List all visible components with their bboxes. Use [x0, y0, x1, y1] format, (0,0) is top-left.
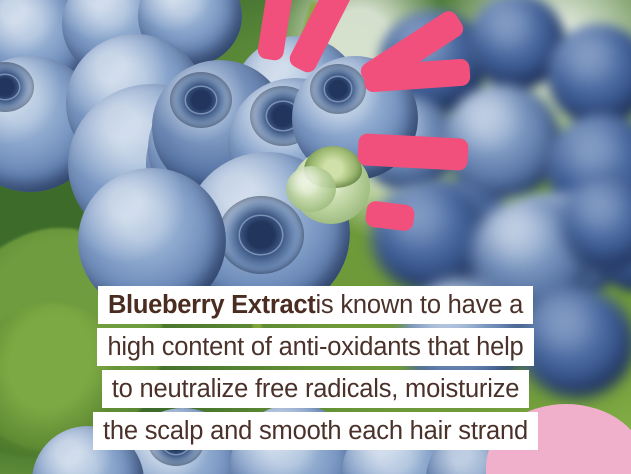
caption-line-1: Blueberry Extract is known to have a: [98, 286, 533, 324]
berry-crown: [218, 196, 304, 274]
unripe-berry: [286, 166, 336, 212]
caption-line-2: high content of anti-oxidants that help: [97, 328, 533, 366]
caption-block: Blueberry Extract is known to have a hig…: [0, 286, 631, 454]
caption-line-1-rest: is known to have a: [315, 286, 523, 324]
caption-line-3: to neutralize free radicals, moisturize: [102, 370, 529, 408]
caption-bold-term: Blueberry Extract: [108, 286, 316, 324]
caption-line-4: the scalp and smooth each hair strand: [93, 412, 538, 450]
berry-crown: [310, 64, 366, 114]
image-canvas: Blueberry Extract is known to have a hig…: [0, 0, 631, 474]
pink-sparkle-stroke-5: [357, 133, 469, 171]
berry-crown: [170, 72, 232, 128]
